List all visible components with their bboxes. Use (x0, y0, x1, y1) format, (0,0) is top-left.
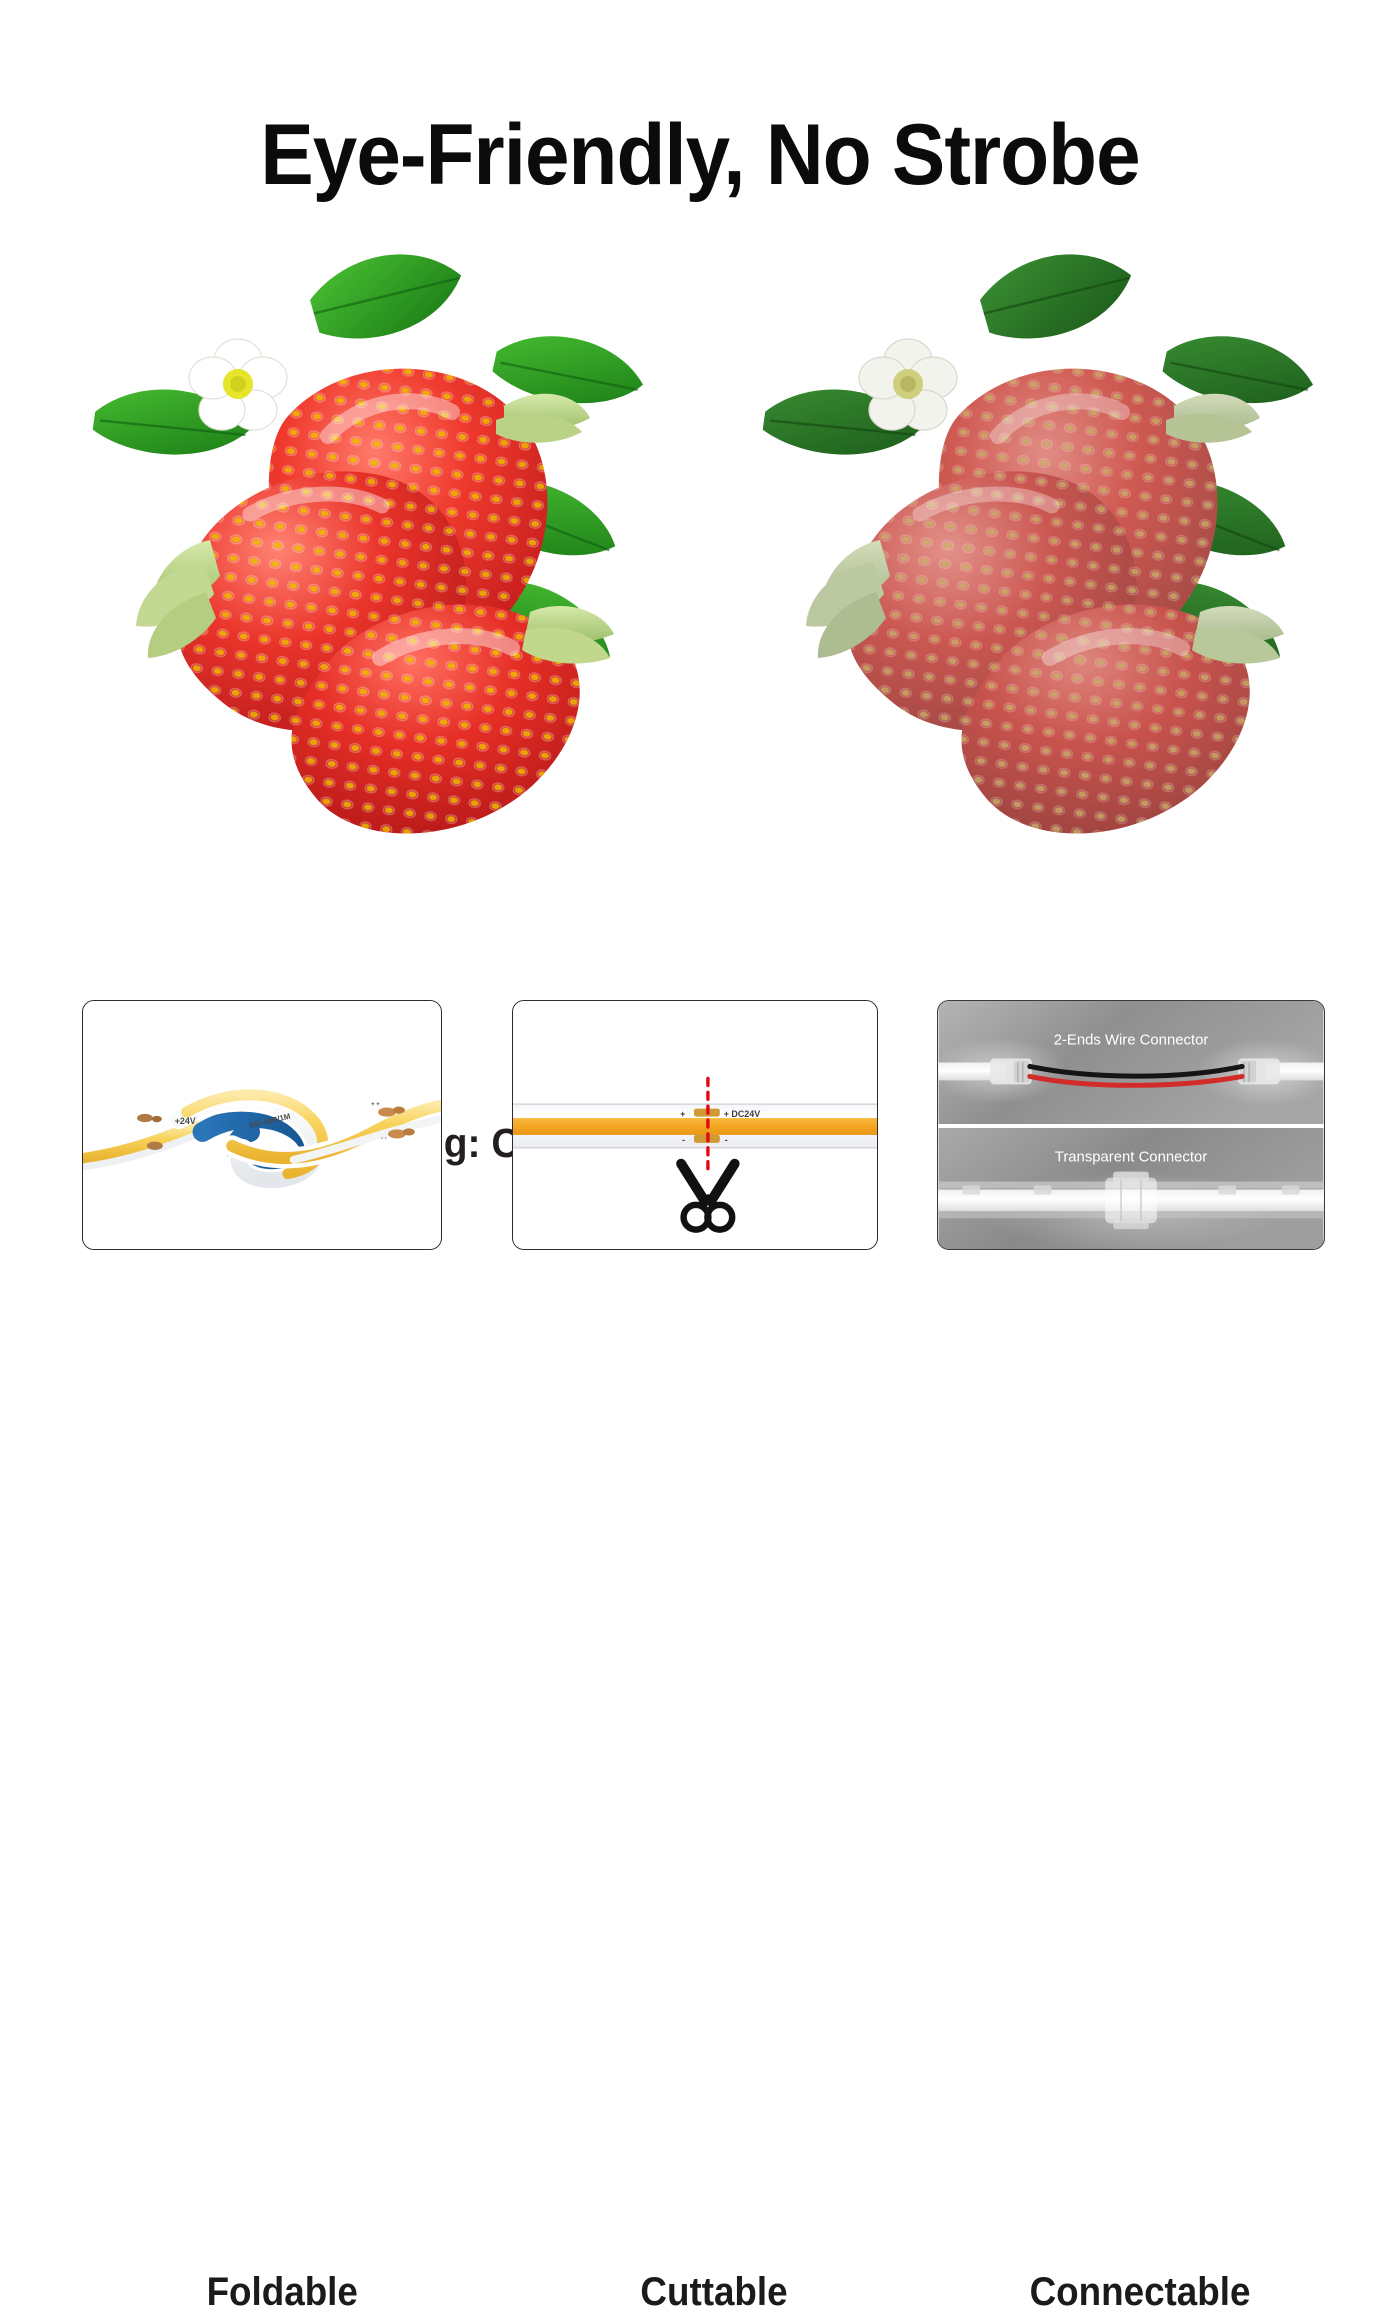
svg-text:+: + (680, 1109, 685, 1119)
svg-text:-: - (725, 1135, 728, 1145)
dc24v-label: + DC24V (724, 1109, 760, 1119)
transparent-connector-label: Transparent Connector (1055, 1150, 1207, 1166)
cuttable-caption: Cuttable (640, 2270, 787, 2315)
connectable-panel: 2-Ends Wire Connector (937, 1000, 1325, 1250)
transparent-connector-body (1105, 1172, 1157, 1230)
svg-text:- -: - - (381, 1136, 387, 1142)
transparent-connector-subimage: Transparent Connector (938, 1128, 1324, 1249)
page-title: Eye-Friendly, No Strobe (49, 112, 1351, 198)
strawberry-flower (859, 339, 957, 430)
wire-connector-label: 2-Ends Wire Connector (1054, 1033, 1209, 1049)
strawberries-high-cri-image (60, 240, 680, 860)
connectable-caption: Connectable (1030, 2270, 1251, 2315)
wire-connector-subimage: 2-Ends Wire Connector (938, 1001, 1324, 1124)
cuttable-panel: + + DC24V - - (512, 1000, 878, 1250)
strawberry-flower (189, 339, 287, 430)
svg-text:+ +: + + (371, 1102, 380, 1108)
foldable-caption: Foldable (207, 2270, 358, 2315)
svg-text:-: - (682, 1135, 685, 1145)
cri-comparison-section: Color Rendering: CRI >90 CRI<80 (0, 240, 1400, 940)
feature-panels-section: +24V ND-40R/1M + + - - (0, 1000, 1400, 1300)
strip-label-24v: +24V (175, 1116, 196, 1126)
low-cri-cell (730, 240, 1350, 880)
calyx-front (1192, 606, 1284, 664)
foldable-panel: +24V ND-40R/1M + + - - (82, 1000, 442, 1250)
strawberries-low-cri-image (730, 240, 1350, 860)
connector-housing-left (990, 1059, 1032, 1085)
connector-housing-right (1238, 1059, 1280, 1085)
high-cri-cell (60, 240, 680, 880)
calyx-front (522, 606, 614, 664)
infographic-page: Eye-Friendly, No Strobe (0, 0, 1400, 1400)
